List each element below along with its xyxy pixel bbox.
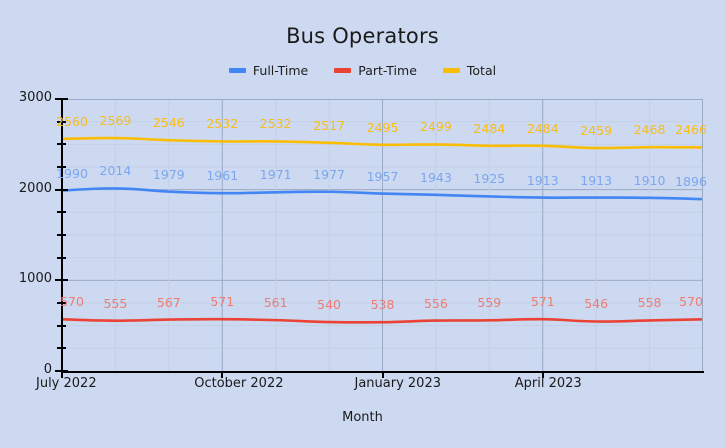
point-label-full-1: 2014	[100, 163, 132, 178]
point-label-part-9: 571	[531, 294, 555, 309]
point-label-part-2: 567	[157, 295, 181, 310]
plot-area	[62, 99, 703, 371]
point-label-part-3: 571	[210, 294, 234, 309]
point-label-full-8: 1925	[473, 171, 505, 186]
legend-label: Total	[467, 63, 496, 78]
point-label-part-10: 546	[584, 296, 608, 311]
y-axis-tick-label: 0	[0, 362, 52, 377]
legend-item-full-time[interactable]: Full-Time	[229, 63, 308, 78]
chart-legend: Full-TimePart-TimeTotal	[0, 63, 725, 78]
point-label-full-9: 1913	[527, 173, 559, 188]
legend-label: Part-Time	[358, 63, 417, 78]
y-axis-tick-label: 2000	[0, 181, 52, 196]
line-chart: Bus Operators Full-TimePart-TimeTotal 01…	[0, 0, 725, 448]
y-axis-tick-major	[55, 279, 68, 281]
y-axis-tick-minor	[57, 234, 66, 236]
legend-swatch-icon	[334, 68, 351, 73]
y-axis-tick-major	[55, 189, 68, 191]
legend-item-part-time[interactable]: Part-Time	[334, 63, 417, 78]
point-label-full-10: 1913	[580, 173, 612, 188]
point-label-full-7: 1943	[420, 170, 452, 185]
point-label-full-3: 1961	[206, 168, 238, 183]
point-label-part-1: 555	[103, 296, 127, 311]
point-label-part-12: 570	[679, 294, 703, 309]
series-lines	[62, 99, 703, 371]
x-axis-tick-label: October 2022	[194, 376, 283, 391]
y-axis-tick-label: 3000	[0, 90, 52, 105]
point-label-full-4: 1971	[260, 167, 292, 182]
y-axis-tick-minor	[57, 211, 66, 213]
legend-swatch-icon	[229, 68, 246, 73]
point-label-part-5: 540	[317, 297, 341, 312]
x-axis-title: Month	[0, 410, 725, 425]
y-axis-tick-minor	[57, 257, 66, 259]
point-label-total-4: 2532	[260, 116, 292, 131]
point-label-part-8: 559	[477, 295, 501, 310]
legend-label: Full-Time	[253, 63, 308, 78]
x-axis-tick-label: January 2023	[355, 376, 442, 391]
x-axis-tick-label: April 2023	[515, 376, 582, 391]
point-label-total-11: 2468	[634, 122, 666, 137]
legend-item-total[interactable]: Total	[443, 63, 496, 78]
point-label-total-9: 2484	[527, 121, 559, 136]
point-label-part-4: 561	[264, 295, 288, 310]
y-axis-tick-minor	[57, 325, 66, 327]
y-axis-tick-major	[55, 98, 68, 100]
point-label-part-0: 570	[60, 294, 84, 309]
point-label-total-7: 2499	[420, 119, 452, 134]
legend-swatch-icon	[443, 68, 460, 73]
line-series-part-time	[62, 319, 703, 322]
point-label-total-10: 2459	[580, 123, 612, 138]
point-label-full-12: 1896	[675, 174, 707, 189]
y-axis-tick-label: 1000	[0, 271, 52, 286]
point-label-part-6: 538	[371, 297, 395, 312]
line-series-total	[62, 138, 703, 148]
point-label-full-0: 1990	[56, 166, 88, 181]
point-label-part-7: 556	[424, 296, 448, 311]
point-label-total-8: 2484	[473, 121, 505, 136]
point-label-total-5: 2517	[313, 118, 345, 133]
point-label-total-6: 2495	[367, 120, 399, 135]
point-label-total-2: 2546	[153, 115, 185, 130]
y-axis-tick-minor	[57, 347, 66, 349]
point-label-full-2: 1979	[153, 167, 185, 182]
point-label-total-0: 2560	[56, 114, 88, 129]
point-label-full-5: 1977	[313, 167, 345, 182]
y-axis-tick-minor	[57, 143, 66, 145]
x-axis-tick-label: July 2022	[36, 376, 97, 391]
point-label-total-3: 2532	[206, 116, 238, 131]
point-label-total-12: 2466	[675, 122, 707, 137]
line-series-full-time	[62, 188, 703, 199]
point-label-total-1: 2569	[100, 113, 132, 128]
point-label-part-11: 558	[638, 295, 662, 310]
point-label-full-11: 1910	[634, 173, 666, 188]
point-label-full-6: 1957	[367, 169, 399, 184]
chart-title: Bus Operators	[0, 24, 725, 48]
